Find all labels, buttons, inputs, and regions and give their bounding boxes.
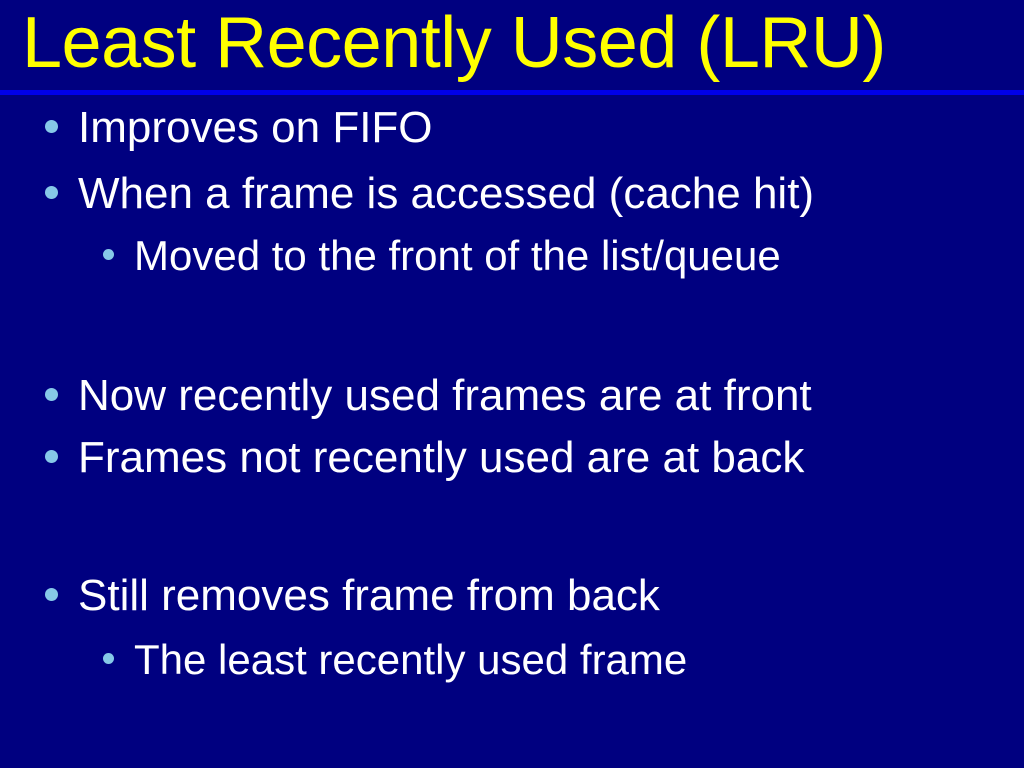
bullet-item: Frames not recently used are at back bbox=[45, 431, 804, 483]
bullet-item: When a frame is accessed (cache hit) bbox=[45, 167, 814, 219]
bullet-dot-icon bbox=[45, 450, 58, 463]
bullet-text: Improves on FIFO bbox=[78, 103, 433, 153]
bullet-dot-icon bbox=[45, 186, 58, 199]
slide-title: Least Recently Used (LRU) bbox=[22, 0, 1002, 89]
bullet-dot-icon bbox=[45, 588, 58, 601]
slide-title-area: Least Recently Used (LRU) bbox=[0, 0, 1024, 90]
bullet-dot-icon bbox=[45, 120, 58, 133]
sub-bullet-item: The least recently used frame bbox=[103, 633, 687, 684]
bullet-item: Still removes frame from back bbox=[45, 569, 660, 621]
sub-bullet-text: The least recently used frame bbox=[134, 636, 687, 684]
sub-bullet-item: Moved to the front of the list/queue bbox=[103, 229, 781, 280]
bullet-item: Improves on FIFO bbox=[45, 101, 433, 153]
bullet-text: Frames not recently used are at back bbox=[78, 433, 804, 483]
presentation-slide: Least Recently Used (LRU) Improves on FI… bbox=[0, 0, 1024, 768]
bullet-item: Now recently used frames are at front bbox=[45, 369, 812, 421]
bullet-dot-icon bbox=[103, 653, 114, 664]
slide-body: Improves on FIFO When a frame is accesse… bbox=[0, 95, 1024, 768]
sub-bullet-text: Moved to the front of the list/queue bbox=[134, 232, 781, 280]
bullet-text: When a frame is accessed (cache hit) bbox=[78, 169, 814, 219]
bullet-dot-icon bbox=[103, 249, 114, 260]
bullet-text: Still removes frame from back bbox=[78, 571, 660, 621]
bullet-dot-icon bbox=[45, 388, 58, 401]
bullet-text: Now recently used frames are at front bbox=[78, 371, 812, 421]
